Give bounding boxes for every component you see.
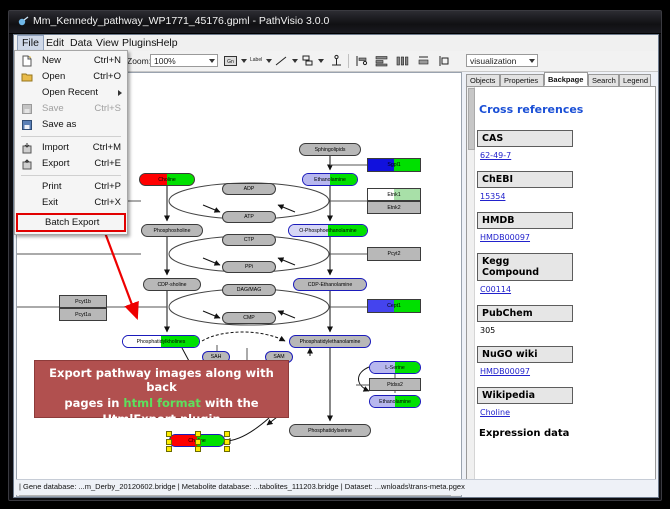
selection-handle[interactable] <box>166 431 172 437</box>
pathway-node-phosphosholine[interactable]: Phosphosholine <box>141 224 203 237</box>
menu-item-open-recent-label: Open Recent <box>42 87 98 98</box>
xref-db-nugo: NuGO wiki <box>477 346 573 363</box>
pathway-node-sgpl1[interactable]: Sgpl1 <box>367 158 421 172</box>
xref-db-wikipedia: Wikipedia <box>477 387 573 404</box>
menu-item-new-accel: Ctrl+N <box>94 53 121 69</box>
pathway-node-label: Etnk1 <box>368 192 420 198</box>
menu-item-import[interactable]: Import Ctrl+M <box>15 140 127 156</box>
pathway-node-label: Phosphatidylethanolamine <box>290 339 370 345</box>
pathway-node-ppi[interactable]: PPi <box>222 261 276 273</box>
xref-value-hmdb[interactable]: HMDB00097 <box>480 233 653 242</box>
pathway-node-adp[interactable]: ADP <box>222 183 276 195</box>
datanode-dropdown-icon[interactable] <box>241 59 247 63</box>
pathway-node-label: CDP-Ethanolamine <box>294 282 366 288</box>
interaction-dropdown-icon[interactable] <box>318 59 324 63</box>
pathway-node-label: Pcyt2 <box>368 251 420 257</box>
selection-handle[interactable] <box>195 446 201 452</box>
distribute-icon[interactable] <box>395 54 410 68</box>
pathway-node-label: L-Serine <box>370 365 420 371</box>
selection-handle[interactable] <box>224 439 230 445</box>
annotation-callout: Export pathway images along with back pa… <box>34 360 289 418</box>
tab-legend[interactable]: Legend <box>619 74 651 86</box>
menu-item-print-accel: Ctrl+P <box>94 179 121 195</box>
menu-item-import-accel: Ctrl+M <box>93 140 121 156</box>
menu-separator <box>21 175 121 176</box>
expression-data-heading: Expression data <box>479 428 653 439</box>
window-titlebar: Mm_Kennedy_pathway_WP1771_45176.gpml - P… <box>9 11 661 34</box>
menu-item-new-label: New <box>42 55 61 66</box>
backpage-content: Cross references CAS 62-49-7 ChEBI 15354… <box>466 86 656 494</box>
pathway-node-ethanolamine[interactable]: Ethanolamine <box>302 173 358 186</box>
pathway-node-label: Cept1 <box>368 303 420 309</box>
pathway-node-atp[interactable]: ATP <box>222 211 276 223</box>
pathway-node-etnk2[interactable]: Etnk2 <box>367 201 421 214</box>
interaction-button[interactable] <box>300 54 315 68</box>
menu-item-export-label: Export <box>42 158 69 169</box>
zoom-combo[interactable]: 100% <box>150 54 218 67</box>
menu-item-save-label: Save <box>42 103 64 114</box>
pathway-node-phosphatidylethanolamine[interactable]: Phosphatidylethanolamine <box>289 335 371 348</box>
annotation-line-2b: with the <box>201 396 259 410</box>
zoom-value: 100% <box>154 56 176 66</box>
pathway-node-pcyt1a[interactable]: Pcyt1a <box>59 308 107 321</box>
menu-item-exit[interactable]: Exit Ctrl+X <box>15 195 127 211</box>
visualization-combo[interactable]: visualization <box>466 54 538 67</box>
side-panel: Objects Properties Backpage Search Legen… <box>462 72 656 495</box>
align-left-icon[interactable] <box>354 54 369 68</box>
cross-references-list: Cross references CAS 62-49-7 ChEBI 15354… <box>477 87 653 493</box>
submenu-arrow-icon <box>118 90 122 96</box>
pathway-node-label: DAG/MAG <box>223 287 275 293</box>
import-icon <box>21 142 33 154</box>
visualization-value: visualization <box>470 56 516 66</box>
side-panel-tabs: Objects Properties Backpage Search Legen… <box>462 72 656 86</box>
xref-db-chebi: ChEBI <box>477 171 573 188</box>
pathway-node-choline[interactable]: Choline <box>139 173 195 186</box>
pathway-node-cept1[interactable]: Cept1 <box>367 299 421 313</box>
pathway-node-label: Phosphatidylserine <box>290 428 370 434</box>
window-client-area: File Edit Data View Plugins Help Zoom: 1… <box>13 34 659 498</box>
pathway-node-pcyt1b[interactable]: Pcyt1b <box>59 295 107 308</box>
pathway-node-ethanolamine[interactable]: Ethanolamine <box>369 395 421 408</box>
label-dropdown-icon[interactable] <box>266 59 272 63</box>
zoom-label: Zoom: <box>127 56 151 66</box>
pathway-node-etnk1[interactable]: Etnk1 <box>367 188 421 201</box>
xref-value-chebi[interactable]: 15354 <box>480 192 653 201</box>
backpage-scrollbar-thumb[interactable] <box>468 88 475 150</box>
selection-handle[interactable] <box>224 431 230 437</box>
pathway-node-phosphatidylserine[interactable]: Phosphatidylserine <box>289 424 371 437</box>
datanode-button[interactable]: Gn <box>223 54 238 68</box>
label-button[interactable]: Label <box>250 57 262 63</box>
xref-value-nugo[interactable]: HMDB00097 <box>480 367 653 376</box>
menu-item-exit-accel: Ctrl+X <box>94 195 121 211</box>
menu-file[interactable]: File <box>17 35 44 51</box>
menu-item-print[interactable]: Print Ctrl+P <box>15 179 127 195</box>
pathway-node-pcyt2[interactable]: Pcyt2 <box>367 247 421 261</box>
chevron-down-icon <box>529 59 535 63</box>
save-as-icon <box>21 119 33 131</box>
pathway-node-l-serine[interactable]: L-Serine <box>369 361 421 374</box>
export-icon <box>21 158 33 170</box>
xref-db-kegg: Kegg Compound <box>477 253 573 281</box>
annotation-line-3: HtmlExport plugin <box>35 412 288 426</box>
pathway-node-ctp[interactable]: CTP <box>222 234 276 246</box>
pathway-node-label: CDP-sholine <box>144 282 200 288</box>
xref-value-cas[interactable]: 62-49-7 <box>480 151 653 160</box>
pathway-node-label: Ptdss2 <box>370 382 420 388</box>
menu-item-save-accel: Ctrl+S <box>94 101 121 117</box>
pathway-node-label: CTP <box>223 237 275 243</box>
file-menu-dropdown[interactable]: New Ctrl+N Open Ctrl+O Open Recent Save … <box>14 50 128 235</box>
tab-objects[interactable]: Objects <box>466 74 500 86</box>
menu-item-batch-export[interactable]: Batch Export <box>16 213 126 232</box>
pathway-node-label: ADP <box>223 186 275 192</box>
selection-handle[interactable] <box>166 439 172 445</box>
annotation-line-2: pages in html format with the <box>35 396 288 410</box>
menu-item-save: Save Ctrl+S <box>15 101 127 117</box>
menu-item-open-label: Open <box>42 71 65 82</box>
menu-item-export[interactable]: Export Ctrl+E <box>15 156 127 172</box>
pathvisio-icon <box>17 16 29 28</box>
pathway-node-cdp-ethanolamine[interactable]: CDP-Ethanolamine <box>293 278 367 291</box>
same-width-icon[interactable] <box>416 54 431 68</box>
pathway-node-sphingolipids[interactable]: Sphingolipids <box>299 143 361 156</box>
backpage-scrollbar[interactable] <box>467 87 475 491</box>
menu-item-export-accel: Ctrl+E <box>94 156 121 172</box>
chevron-down-icon <box>209 59 215 63</box>
menu-item-batch-export-label: Batch Export <box>45 217 99 228</box>
pathway-node-label: Ethanolamine <box>370 399 420 405</box>
menu-item-open[interactable]: Open Ctrl+O <box>15 69 127 85</box>
pathway-node-label: Sphingolipids <box>300 147 360 153</box>
xref-value-kegg[interactable]: C00114 <box>480 285 653 294</box>
anchor-icon[interactable] <box>329 54 344 68</box>
pathway-node-label: Phosphosholine <box>142 228 202 234</box>
menu-item-save-as-label: Save as <box>42 119 76 130</box>
xref-value-wikipedia[interactable]: Choline <box>480 408 653 417</box>
line-button[interactable] <box>274 54 289 68</box>
svg-text:Gn: Gn <box>227 59 234 65</box>
pathway-node-label: ATP <box>223 214 275 220</box>
pathway-node-label: Ethanolamine <box>303 177 357 183</box>
pathway-node-label: CMP <box>223 315 275 321</box>
pathway-node-phosphatidylkholines[interactable]: Phosphatidylkholines <box>122 335 200 348</box>
pathway-node-label: Choline <box>140 177 194 183</box>
selection-handle[interactable] <box>166 446 172 452</box>
xref-db-pubchem: PubChem <box>477 305 573 322</box>
folder-open-icon <box>21 71 33 83</box>
pathway-node-label: Phosphatidylkholines <box>123 339 199 345</box>
menu-item-print-label: Print <box>42 181 62 192</box>
xref-value-pubchem: 305 <box>480 326 653 335</box>
pathway-node-cdp-sholine[interactable]: CDP-sholine <box>143 278 201 291</box>
pathway-node-dag-mag[interactable]: DAG/MAG <box>222 284 276 296</box>
menu-help[interactable]: Help <box>151 36 183 50</box>
selection-handle[interactable] <box>195 431 201 437</box>
pathway-node-label: Pcyt1a <box>60 312 106 318</box>
xref-db-hmdb: HMDB <box>477 212 573 229</box>
annotation-line-1: Export pathway images along with back <box>35 366 288 394</box>
pathway-node-o-phosphoethanolamine[interactable]: O-Phosphoethanolamine <box>288 224 368 237</box>
window-title: Mm_Kennedy_pathway_WP1771_45176.gpml - P… <box>33 15 329 27</box>
annotation-line-2a: pages in <box>64 396 123 410</box>
pathway-node-label: Etnk2 <box>368 205 420 211</box>
tab-search[interactable]: Search <box>588 74 619 86</box>
new-file-icon <box>21 55 33 67</box>
save-icon <box>21 103 33 115</box>
menu-item-exit-label: Exit <box>42 197 58 208</box>
statusbar: | Gene database: ...m_Derby_20120602.bri… <box>16 479 656 495</box>
selection-handle[interactable] <box>195 439 201 445</box>
pathway-node-label: Sgpl1 <box>368 162 420 168</box>
order-icon[interactable] <box>437 54 452 68</box>
align-stack-icon[interactable] <box>374 54 389 68</box>
annotation-highlight: html format <box>123 396 200 410</box>
pathway-node-label: O-Phosphoethanolamine <box>289 228 367 234</box>
menu-item-open-accel: Ctrl+O <box>93 69 121 85</box>
menu-item-save-as[interactable]: Save as <box>15 117 127 133</box>
pathway-node-label: PPi <box>223 264 275 270</box>
cross-references-heading: Cross references <box>479 103 653 116</box>
tab-properties[interactable]: Properties <box>500 74 544 86</box>
pathvisio-window: Mm_Kennedy_pathway_WP1771_45176.gpml - P… <box>8 10 662 501</box>
pathway-node-cmp[interactable]: CMP <box>222 312 276 324</box>
menu-separator <box>21 136 121 137</box>
tab-backpage[interactable]: Backpage <box>544 72 588 86</box>
menu-item-open-recent[interactable]: Open Recent <box>15 85 127 101</box>
line-dropdown-icon[interactable] <box>292 59 298 63</box>
xref-db-cas: CAS <box>477 130 573 147</box>
pathway-node-ptdss2[interactable]: Ptdss2 <box>369 378 421 391</box>
statusbar-text: | Gene database: ...m_Derby_20120602.bri… <box>19 482 465 491</box>
selection-handle[interactable] <box>224 446 230 452</box>
screenshot-root: Mm_Kennedy_pathway_WP1771_45176.gpml - P… <box>0 0 670 509</box>
pathway-node-label: Pcyt1b <box>60 299 106 305</box>
menu-item-new[interactable]: New Ctrl+N <box>15 53 127 69</box>
menu-item-import-label: Import <box>42 142 69 153</box>
